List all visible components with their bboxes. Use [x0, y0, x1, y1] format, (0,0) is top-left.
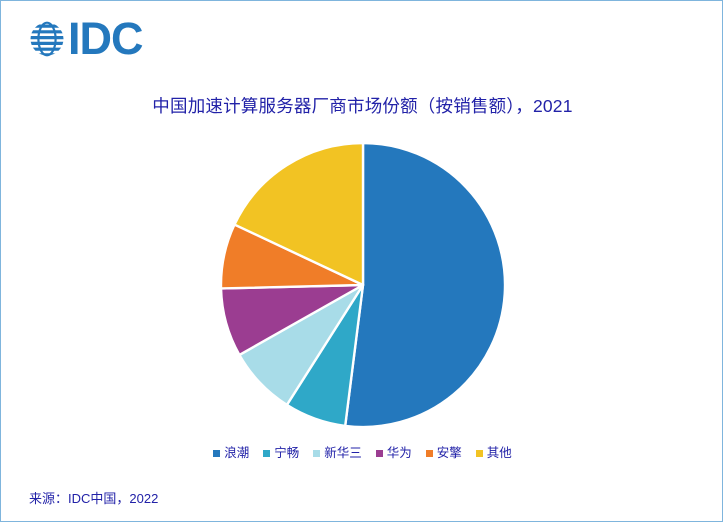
legend-item[interactable]: 新华三: [313, 447, 362, 460]
legend-label: 宁畅: [274, 447, 299, 460]
pie-chart: [215, 137, 511, 433]
legend-label: 浪潮: [224, 447, 249, 460]
slide-canvas: IDC 中国加速计算服务器厂商市场份额（按销售额），2021 浪潮宁畅新华三华为…: [0, 0, 723, 522]
legend-label: 其他: [487, 447, 512, 460]
chart-title: 中国加速计算服务器厂商市场份额（按销售额），2021: [1, 93, 723, 118]
pie-svg: [215, 137, 511, 433]
legend-item[interactable]: 安擎: [426, 447, 462, 460]
idc-wordmark: IDC: [68, 19, 143, 59]
legend-swatch-icon: [426, 450, 433, 457]
legend-swatch-icon: [213, 450, 220, 457]
pie-slice[interactable]: [345, 143, 505, 427]
legend-item[interactable]: 华为: [376, 447, 412, 460]
idc-logo: IDC: [27, 17, 143, 61]
chart-legend: 浪潮宁畅新华三华为安擎其他: [1, 447, 723, 460]
legend-swatch-icon: [476, 450, 483, 457]
legend-swatch-icon: [263, 450, 270, 457]
legend-swatch-icon: [313, 450, 320, 457]
legend-label: 华为: [387, 447, 412, 460]
legend-item[interactable]: 浪潮: [213, 447, 249, 460]
legend-label: 安擎: [437, 447, 462, 460]
legend-item[interactable]: 其他: [476, 447, 512, 460]
legend-swatch-icon: [376, 450, 383, 457]
source-note: 来源：IDC中国，2022: [29, 488, 158, 507]
globe-icon: [27, 19, 67, 59]
legend-label: 新华三: [324, 447, 362, 460]
legend-item[interactable]: 宁畅: [263, 447, 299, 460]
